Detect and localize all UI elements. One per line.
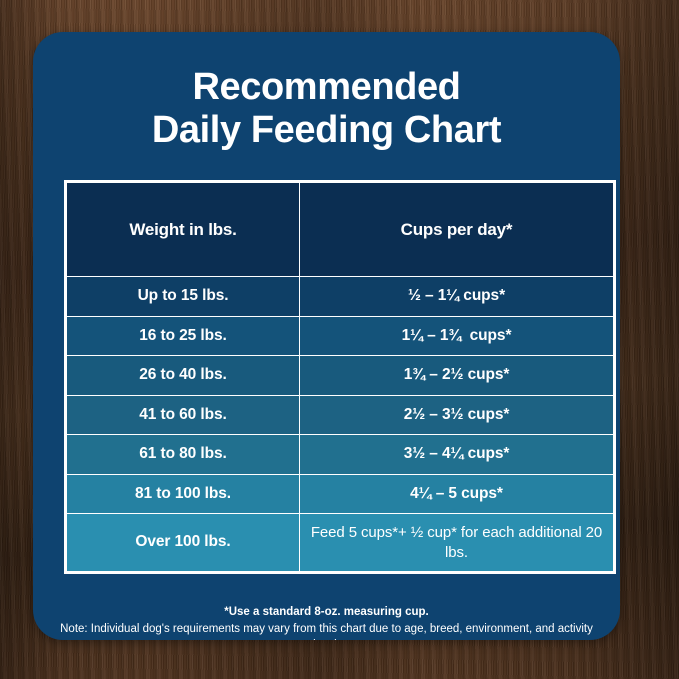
cell-weight: 26 to 40 lbs.: [67, 356, 300, 396]
cell-cups: 1¾ – 2½ cups*: [300, 356, 614, 396]
cell-weight: 16 to 25 lbs.: [67, 316, 300, 356]
cell-weight: 81 to 100 lbs.: [67, 474, 300, 514]
footnote-measuring-cup: *Use a standard 8-oz. measuring cup.: [53, 604, 600, 621]
cell-weight: 41 to 60 lbs.: [67, 395, 300, 435]
footnotes: *Use a standard 8-oz. measuring cup. Not…: [53, 604, 600, 640]
title-line-2: Daily Feeding Chart: [33, 109, 620, 152]
cell-cups: 3½ – 4¼ cups*: [300, 435, 614, 475]
cell-cups: Feed 5 cups*+ ½ cup* for each additional…: [300, 514, 614, 572]
table-row: Up to 15 lbs. ½ – 1¼ cups*: [67, 277, 614, 317]
table-row: 41 to 60 lbs. 2½ – 3½ cups*: [67, 395, 614, 435]
feeding-chart-card: Recommended Daily Feeding Chart Weight i…: [33, 32, 620, 640]
cell-weight: Up to 15 lbs.: [67, 277, 300, 317]
column-header-weight: Weight in lbs.: [67, 183, 300, 277]
table-row: 61 to 80 lbs. 3½ – 4¼ cups*: [67, 435, 614, 475]
cell-cups: 4¼ – 5 cups*: [300, 474, 614, 514]
footnote-individual-requirements: Note: Individual dog's requirements may …: [53, 621, 600, 640]
table-row: 26 to 40 lbs. 1¾ – 2½ cups*: [67, 356, 614, 396]
table-row: Over 100 lbs. Feed 5 cups*+ ½ cup* for e…: [67, 514, 614, 572]
cell-weight: 61 to 80 lbs.: [67, 435, 300, 475]
feeding-table: Weight in lbs. Cups per day* Up to 15 lb…: [66, 182, 614, 572]
page-title: Recommended Daily Feeding Chart: [33, 32, 620, 152]
title-line-1: Recommended: [192, 66, 460, 108]
wood-background: Recommended Daily Feeding Chart Weight i…: [0, 0, 679, 679]
table-header-row: Weight in lbs. Cups per day*: [67, 183, 614, 277]
cell-cups: ½ – 1¼ cups*: [300, 277, 614, 317]
feeding-table-wrapper: Weight in lbs. Cups per day* Up to 15 lb…: [64, 180, 616, 574]
table-row: 81 to 100 lbs. 4¼ – 5 cups*: [67, 474, 614, 514]
table-row: 16 to 25 lbs. 1¼ – 1¾ cups*: [67, 316, 614, 356]
table-body: Up to 15 lbs. ½ – 1¼ cups* 16 to 25 lbs.…: [67, 277, 614, 572]
cell-cups: 2½ – 3½ cups*: [300, 395, 614, 435]
cell-weight: Over 100 lbs.: [67, 514, 300, 572]
column-header-cups: Cups per day*: [300, 183, 614, 277]
cell-cups: 1¼ – 1¾ cups*: [300, 316, 614, 356]
